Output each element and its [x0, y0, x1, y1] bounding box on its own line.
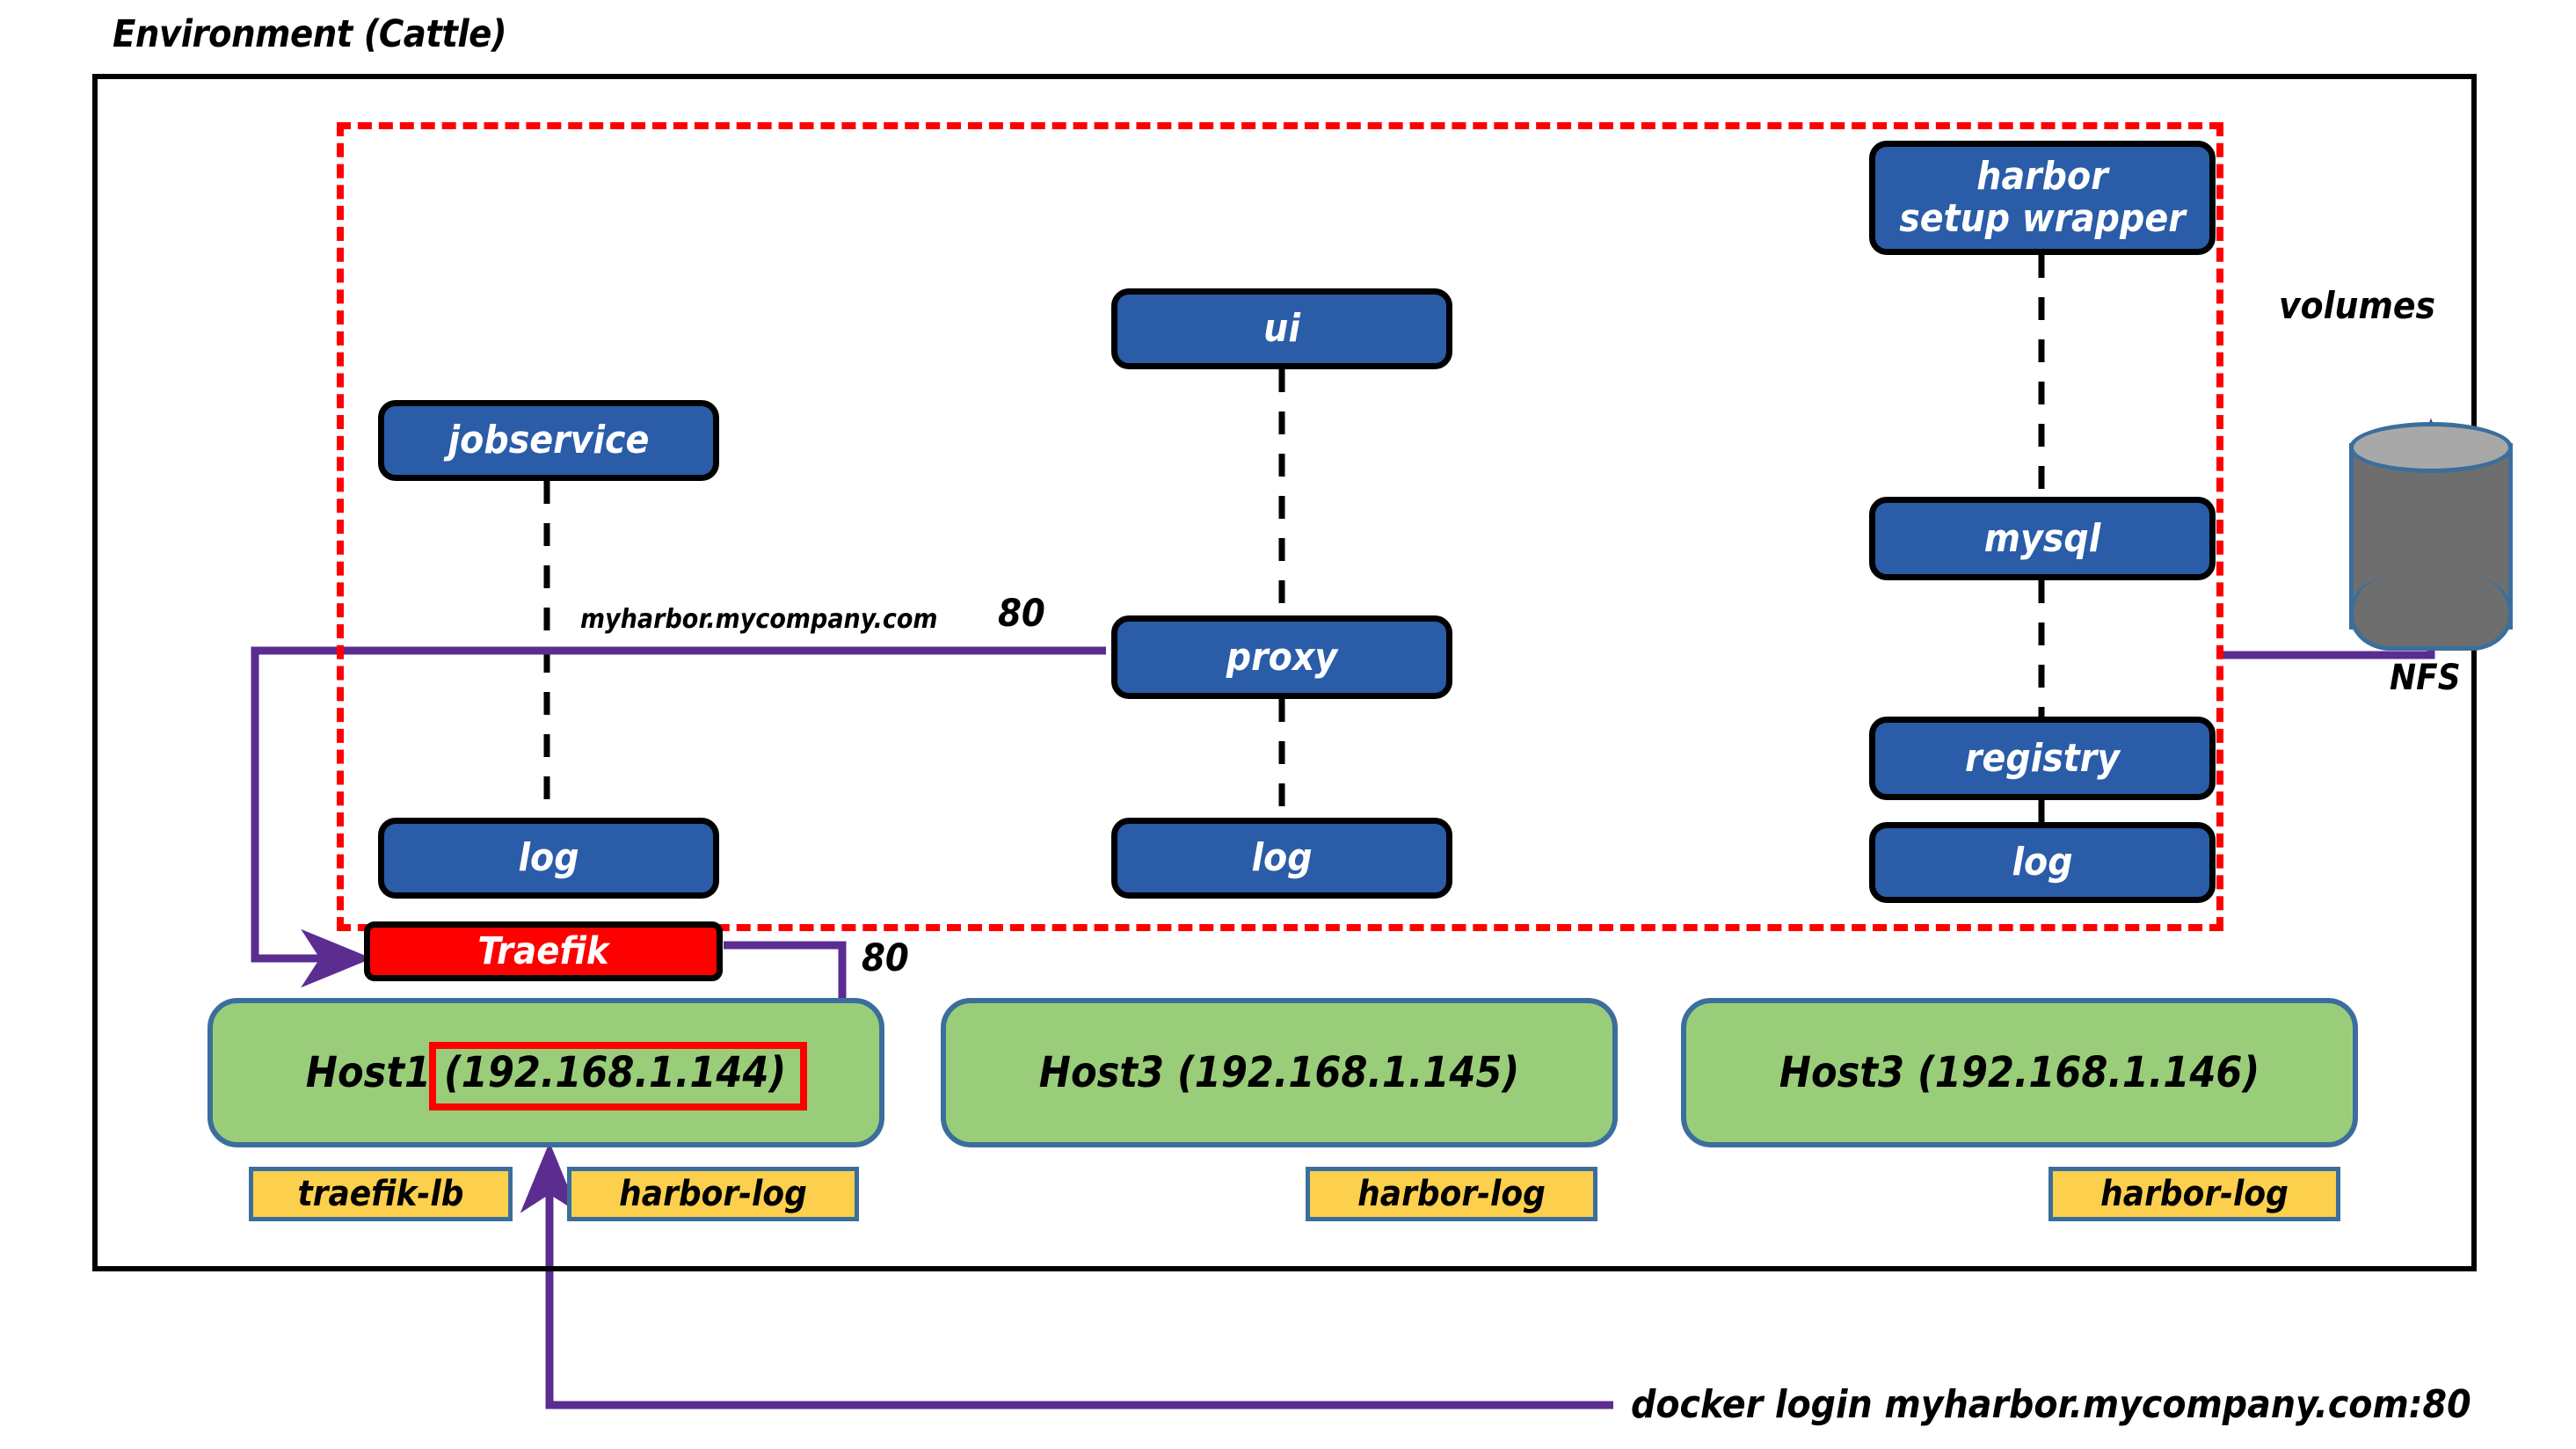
stack-label-text: traefik-lb: [298, 1174, 464, 1214]
host-label: Host3 (192.168.1.145): [1039, 1048, 1519, 1097]
service-box-jobservice[interactable]: jobservice: [378, 400, 719, 481]
service-box-proxy[interactable]: proxy: [1111, 615, 1452, 699]
stack-label-text: harbor-log: [619, 1174, 807, 1214]
host-label: Host3 (192.168.1.146): [1779, 1048, 2259, 1097]
nfs-cylinder-top: [2349, 422, 2513, 473]
host1-ip-highlight: [429, 1042, 807, 1110]
stack-label-harbor-log-1[interactable]: harbor-log: [567, 1167, 859, 1221]
stack-label-traefik-lb[interactable]: traefik-lb: [249, 1167, 513, 1221]
traefik-load-balancer-box[interactable]: Traefik: [364, 921, 723, 981]
service-label: jobservice: [448, 419, 650, 462]
service-label: proxy: [1226, 637, 1337, 679]
service-box-harbor-setup-wrapper[interactable]: harbor setup wrapper: [1869, 141, 2216, 255]
service-label: registry: [1965, 738, 2120, 780]
host-box-3[interactable]: Host3 (192.168.1.146): [1681, 998, 2358, 1147]
nfs-storage-icon: [2349, 422, 2513, 651]
volumes-label: volumes: [2279, 284, 2435, 327]
edge-label-port-proxy: 80: [998, 592, 1045, 636]
service-label: ui: [1263, 308, 1300, 350]
nfs-cylinder-bottom: [2349, 577, 2513, 651]
traefik-label: Traefik: [477, 929, 608, 973]
service-label-line1: harbor: [1976, 156, 2108, 198]
service-box-ui[interactable]: ui: [1111, 288, 1452, 369]
service-label-line2: setup wrapper: [1899, 198, 2186, 240]
service-box-jobservice-log[interactable]: log: [378, 818, 719, 899]
service-box-proxy-log[interactable]: log: [1111, 818, 1452, 899]
page-title: Environment (Cattle): [113, 12, 506, 56]
diagram-canvas: Environment (Cattle) jobservice log ui p…: [0, 0, 2576, 1449]
edge-label-hostname: myharbor.mycompany.com: [580, 604, 938, 635]
stack-label-harbor-log-2[interactable]: harbor-log: [1306, 1167, 1597, 1221]
service-box-mysql[interactable]: mysql: [1869, 497, 2216, 580]
service-label: log: [1251, 837, 1312, 879]
service-label: log: [518, 837, 579, 879]
service-box-registry-log[interactable]: log: [1869, 822, 2216, 903]
service-label: log: [2012, 841, 2072, 884]
service-box-registry[interactable]: registry: [1869, 717, 2216, 800]
stack-label-text: harbor-log: [2100, 1174, 2289, 1214]
host-box-2[interactable]: Host3 (192.168.1.145): [941, 998, 1618, 1147]
stack-label-harbor-log-3[interactable]: harbor-log: [2048, 1167, 2340, 1221]
nfs-label: NFS: [2390, 658, 2461, 698]
docker-login-annotation: docker login myharbor.mycompany.com:80: [1631, 1382, 2471, 1427]
edge-label-port-traefik: 80: [862, 936, 909, 980]
stack-label-text: harbor-log: [1357, 1174, 1546, 1214]
service-label: mysql: [1984, 518, 2101, 560]
